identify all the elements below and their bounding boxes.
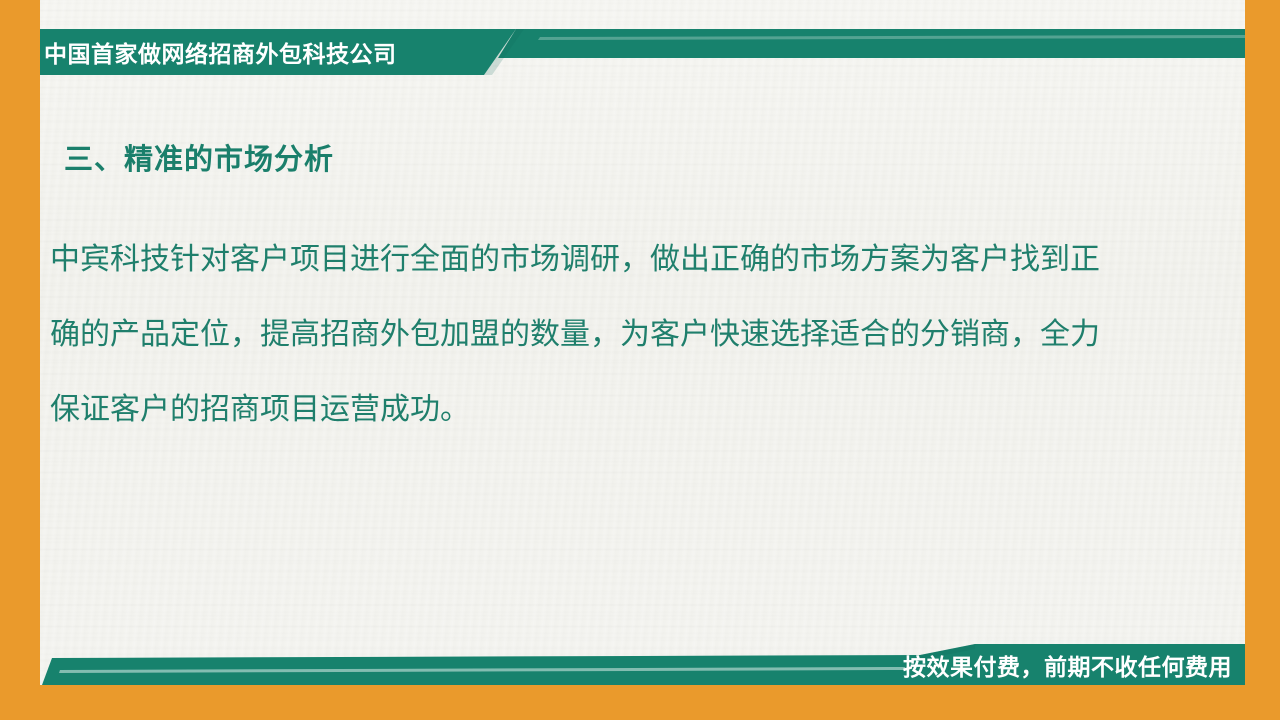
footer-tagline: 按效果付费，前期不收任何费用	[903, 646, 1232, 684]
header-title: 中国首家做网络招商外包科技公司	[44, 33, 514, 71]
slide-canvas: 中国首家做网络招商外包科技公司 三、精准的市场分析 中宾科技针对客户项目进行全面…	[0, 0, 1280, 720]
page-title: 三、精准的市场分析	[64, 136, 334, 178]
body-paragraph: 中宾科技针对客户项目进行全面的市场调研，做出正确的市场方案为客户找到正 确的产品…	[50, 222, 1190, 447]
body-line-1: 中宾科技针对客户项目进行全面的市场调研，做出正确的市场方案为客户找到正	[50, 222, 1190, 297]
body-line-2: 确的产品定位，提高招商外包加盟的数量，为客户快速选择适合的分销商，全力	[50, 297, 1190, 372]
body-line-3: 保证客户的招商项目运营成功。	[50, 372, 1190, 447]
